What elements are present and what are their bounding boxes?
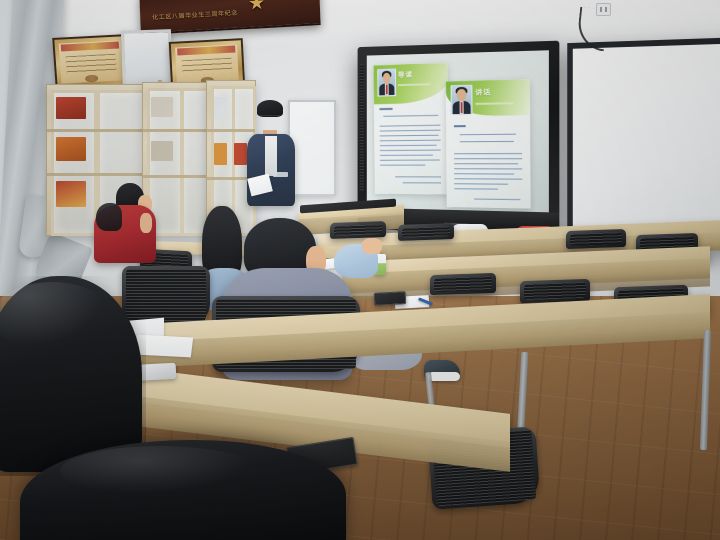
slide-page-left: 导读: [374, 63, 449, 195]
slide-page-right: 讲话: [446, 79, 531, 208]
student-red-jacket: [92, 183, 158, 265]
slide-header-text-right: 讲话: [475, 87, 491, 97]
spacer2: [160, 80, 162, 82]
student-chair[interactable]: [430, 273, 496, 295]
glasses-icon: [260, 115, 280, 121]
foreground-student-bottom: [20, 440, 350, 540]
whiteboard-right: [567, 37, 720, 252]
presenter: [243, 100, 305, 220]
classroom-photo: ★ 化工区八届毕业生三周年纪念: [0, 0, 720, 540]
award-plaque-left: [52, 34, 130, 90]
display-screen[interactable]: 导读: [367, 50, 549, 212]
presenter-jacket-detail: [273, 172, 288, 177]
speaker-grille: [359, 64, 364, 190]
slide-portrait-left: [377, 69, 396, 97]
student-chair[interactable]: [566, 229, 626, 249]
slide-header-text-left: 导读: [398, 70, 413, 80]
student-chair[interactable]: [520, 279, 590, 303]
shoe-sole: [428, 372, 460, 381]
slide-portrait-right: [451, 85, 473, 115]
student-chair[interactable]: [398, 223, 454, 241]
presenter-shirt-front: [265, 136, 277, 176]
